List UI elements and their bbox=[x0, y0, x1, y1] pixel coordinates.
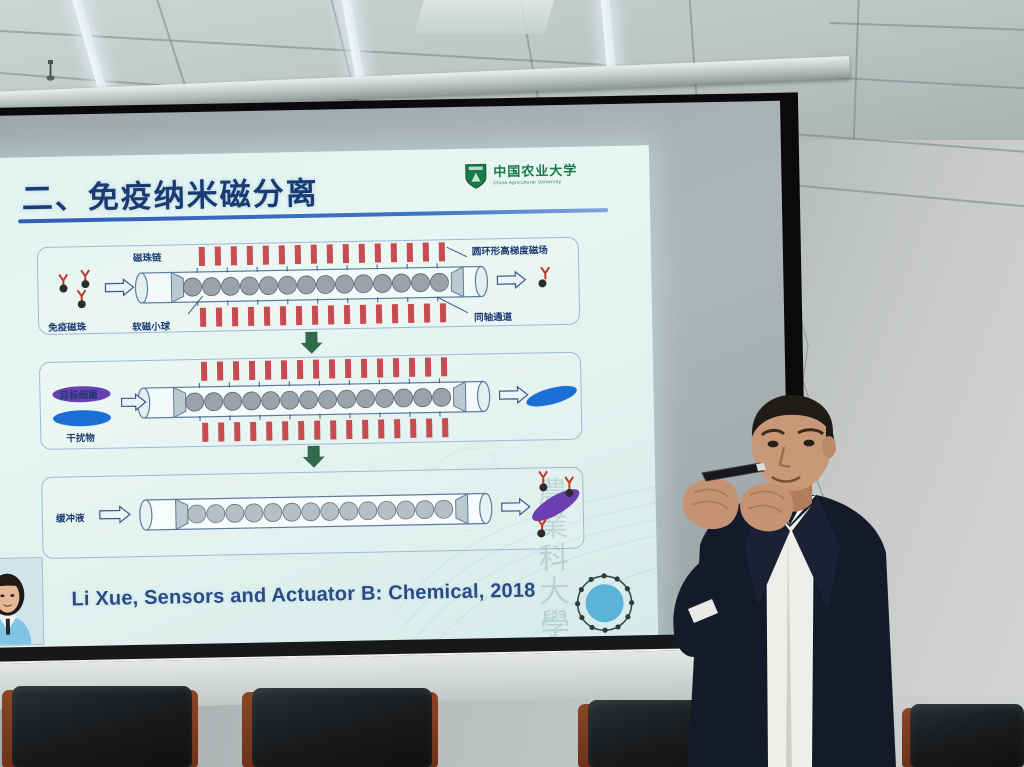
projected-slide: 農業科大學 二、免疫纳米磁分离 bbox=[0, 145, 658, 658]
conference-chair bbox=[240, 688, 440, 767]
ac-vent-icon bbox=[414, 0, 555, 34]
university-logo: 中国农业大学 China Agricultural University bbox=[464, 161, 578, 190]
presenter bbox=[640, 395, 940, 767]
speaker-thumbnail bbox=[0, 557, 44, 646]
presenter-figure bbox=[640, 395, 940, 767]
panel-2-diagram bbox=[39, 352, 581, 448]
label-coaxial-channel: 同轴通道 bbox=[474, 309, 512, 324]
panel-3-diagram bbox=[41, 467, 582, 557]
nanoparticle-icon bbox=[573, 572, 636, 635]
label-soft-magnetic-spheres: 软磁小球 bbox=[132, 319, 170, 334]
slide-title: 二、免疫纳米磁分离 bbox=[21, 168, 319, 219]
sprinkler-icon bbox=[46, 60, 55, 82]
label-bead-chain: 磁珠链 bbox=[133, 250, 162, 265]
university-name-en: China Agricultural University bbox=[493, 179, 577, 185]
avatar bbox=[0, 558, 43, 645]
flow-arrow-down-2 bbox=[301, 446, 327, 468]
flow-arrow-down-1 bbox=[298, 332, 324, 354]
lecture-hall-photo: 農業科大學 二、免疫纳米磁分离 bbox=[0, 0, 1024, 767]
shield-icon bbox=[464, 162, 488, 189]
label-annular-field: 圆环形高梯度磁场 bbox=[472, 242, 548, 257]
label-immunomagnetic-beads: 免疫磁珠 bbox=[48, 319, 86, 334]
label-interferents: 干扰物 bbox=[66, 430, 95, 445]
label-buffer-solution: 缓冲液 bbox=[56, 510, 85, 525]
conference-chair bbox=[0, 686, 200, 767]
label-target-bacteria: 目标细菌 bbox=[59, 387, 97, 402]
university-name-cn: 中国农业大学 bbox=[493, 164, 577, 179]
